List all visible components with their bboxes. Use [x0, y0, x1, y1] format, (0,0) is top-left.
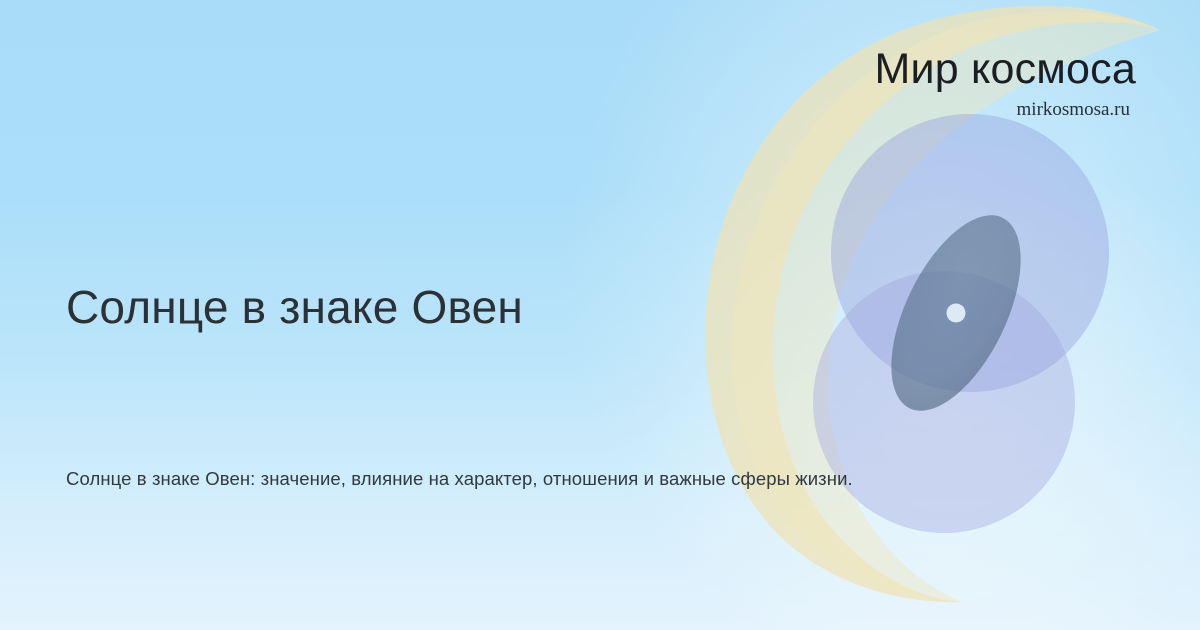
page-title: Солнце в знаке Овен [66, 282, 523, 333]
slate-tilted-ellipse [865, 196, 1048, 430]
logo-domain: mirkosmosa.ru [874, 100, 1130, 119]
lavender-circle-upper [831, 114, 1109, 392]
white-center-dot [947, 304, 966, 323]
page-subtitle: Солнце в знаке Овен: значение, влияние н… [66, 467, 853, 491]
logo-title: Мир космоса [874, 48, 1136, 91]
background-glow-secondary [640, 120, 1200, 630]
og-card: Мир космоса mirkosmosa.ru Солнце в знаке… [0, 0, 1200, 630]
brand-logo[interactable]: Мир космоса mirkosmosa.ru [874, 48, 1136, 119]
lavender-circle-lower [813, 271, 1075, 533]
